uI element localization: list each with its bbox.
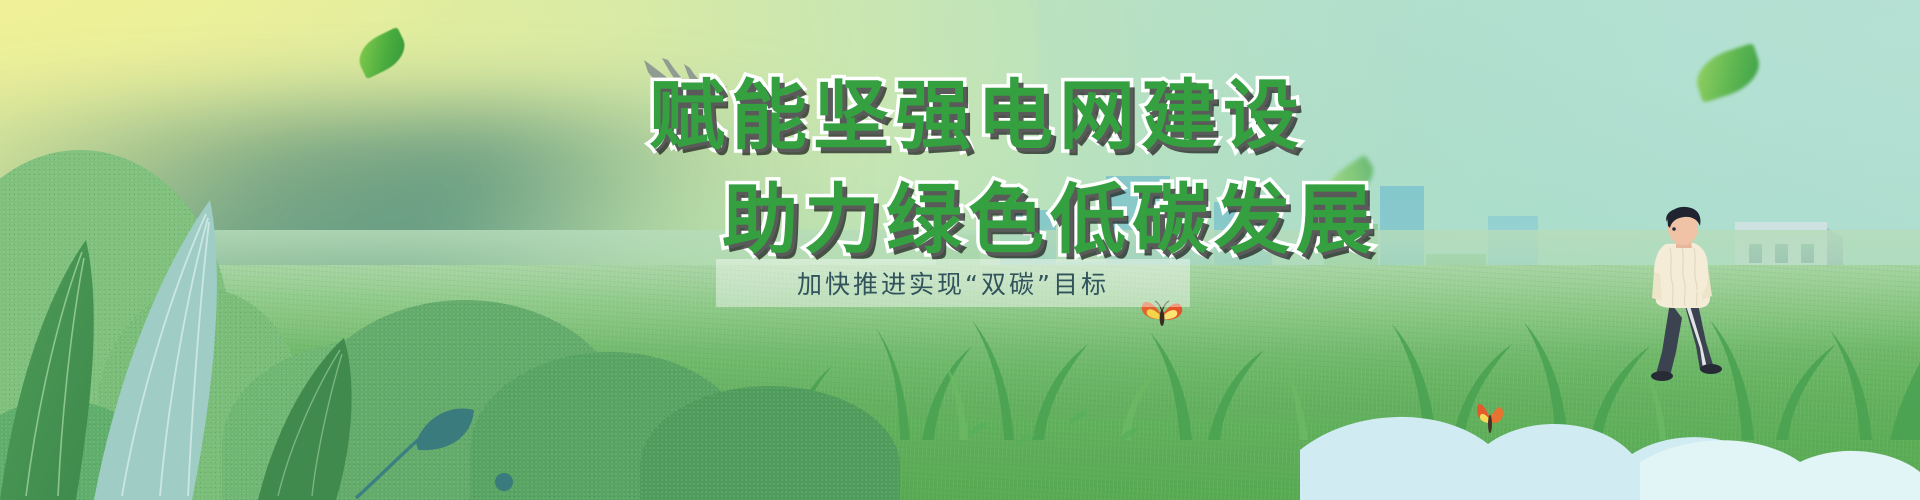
stem-leaf	[470, 460, 530, 500]
subtitle-text: 加快推进实现“双碳”目标	[716, 259, 1190, 307]
eco-power-grid-banner: 赋能坚强电网建设 助力绿色低碳发展 加快推进实现“双碳”目标	[0, 0, 1920, 500]
swallow-bird-icon	[636, 58, 732, 110]
stem-leaf	[350, 370, 480, 500]
